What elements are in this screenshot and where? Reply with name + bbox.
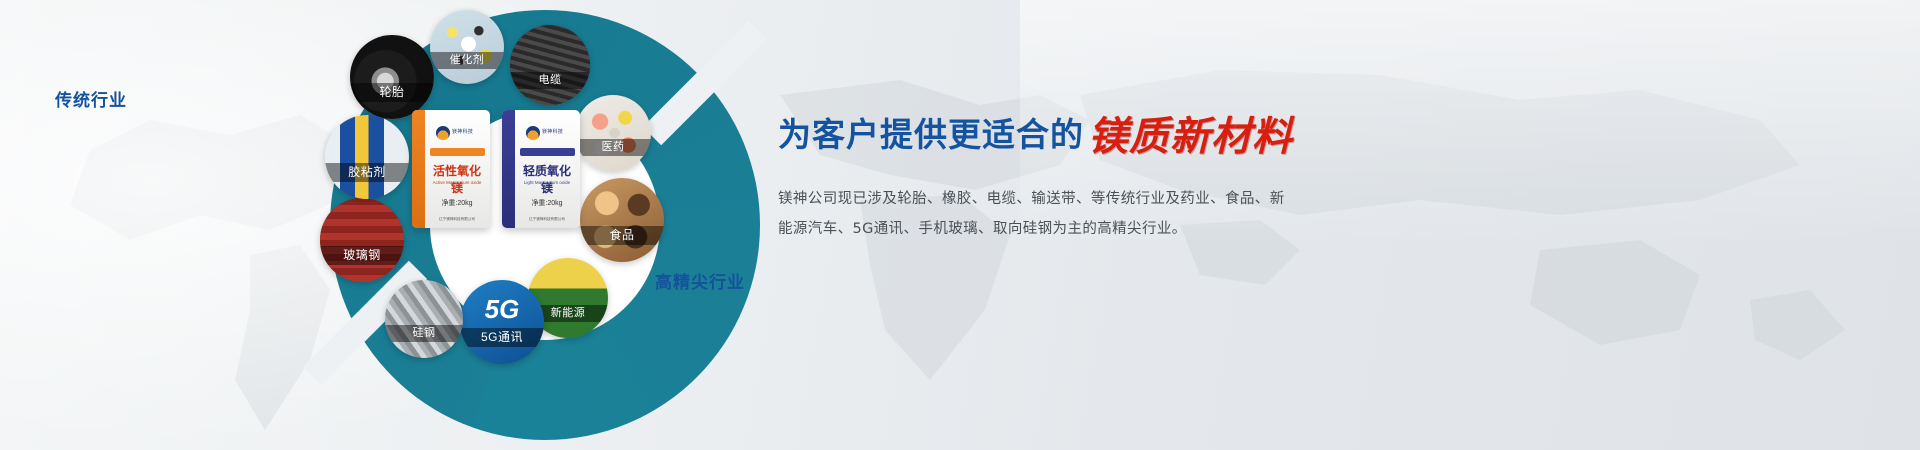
circle-caption: 5G通讯 bbox=[460, 328, 544, 347]
circle-tire[interactable]: 轮胎 bbox=[350, 35, 434, 119]
5g-badge-text: 5G bbox=[460, 294, 544, 325]
pack-stripe bbox=[412, 110, 425, 228]
circle-catalyst[interactable]: 催化剂 bbox=[430, 10, 504, 84]
pack-brand: 镁神科技 bbox=[542, 128, 563, 135]
adhesive-image bbox=[325, 115, 409, 199]
pack-band bbox=[430, 148, 485, 156]
pack-company: 辽宁镁神科技有限公司 bbox=[428, 217, 486, 222]
pack-company: 辽宁镁神科技有限公司 bbox=[518, 217, 576, 222]
brand-logo-icon bbox=[436, 126, 450, 140]
description-paragraph: 镁神公司现已涉及轮胎、橡胶、电缆、输送带、等传统行业及药业、食品、新 能源汽车、… bbox=[778, 184, 1338, 244]
circle-food[interactable]: 食品 bbox=[580, 178, 664, 262]
product-pack-light-magnesia[interactable]: 镁神科技 轻质氧化镁 Light Magnesium oxide 净重:20kg… bbox=[502, 110, 580, 228]
catalyst-image bbox=[430, 10, 504, 84]
product-packs: 镁神科技 活性氧化镁 Active Magnesium oxide 净重:20k… bbox=[412, 110, 587, 235]
circle-frp[interactable]: 玻璃钢 bbox=[320, 198, 404, 282]
pack-title: 活性氧化镁 bbox=[428, 162, 486, 196]
circle-caption: 食品 bbox=[580, 226, 664, 245]
frp-image bbox=[320, 198, 404, 282]
circle-cable[interactable]: 电缆 bbox=[510, 25, 590, 105]
headline: 为客户提供更适合的 镁质新材料 bbox=[778, 108, 1338, 156]
pack-brand: 镁神科技 bbox=[452, 128, 473, 135]
circle-5g[interactable]: 5G 5G通讯 bbox=[460, 280, 544, 364]
label-hitech-industries: 高精尖行业 bbox=[655, 268, 745, 293]
pack-subtitle: Light Magnesium oxide bbox=[518, 180, 576, 185]
circle-caption: 硅钢 bbox=[385, 325, 463, 342]
pack-stripe bbox=[502, 110, 515, 228]
brand-logo-icon bbox=[526, 126, 540, 140]
industry-ring-graphic: 轮胎 催化剂 电缆 医药 食品 新能源 5G 5G通讯 硅钢 玻璃钢 胶粘剂 bbox=[180, 0, 800, 450]
circle-caption: 胶粘剂 bbox=[325, 163, 409, 182]
product-pack-active-magnesia[interactable]: 镁神科技 活性氧化镁 Active Magnesium oxide 净重:20k… bbox=[412, 110, 490, 228]
pack-net-weight: 净重:20kg bbox=[428, 198, 486, 208]
pack-band bbox=[520, 148, 575, 156]
pack-subtitle: Active Magnesium oxide bbox=[428, 180, 486, 185]
silicon-steel-image bbox=[385, 280, 463, 358]
headline-red-text: 镁质新材料 bbox=[1088, 118, 1293, 156]
pack-net-weight: 净重:20kg bbox=[518, 198, 576, 208]
tire-image bbox=[350, 35, 434, 119]
pack-title: 轻质氧化镁 bbox=[518, 162, 576, 196]
cable-image bbox=[510, 25, 590, 105]
circle-silicon-steel[interactable]: 硅钢 bbox=[385, 280, 463, 358]
label-traditional-industries: 传统行业 bbox=[55, 86, 127, 111]
circle-caption: 催化剂 bbox=[430, 52, 504, 69]
circle-adhesive[interactable]: 胶粘剂 bbox=[325, 115, 409, 199]
headline-blue-text: 为客户提供更适合的 bbox=[778, 108, 1084, 156]
paragraph-line-1: 镁神公司现已涉及轮胎、橡胶、电缆、输送带、等传统行业及药业、食品、新 bbox=[778, 184, 1338, 214]
food-image bbox=[580, 178, 664, 262]
paragraph-line-2: 能源汽车、5G通讯、手机玻璃、取向硅钢为主的高精尖行业。 bbox=[778, 214, 1338, 244]
circle-caption: 电缆 bbox=[510, 72, 590, 89]
circle-caption: 玻璃钢 bbox=[320, 246, 404, 265]
copy-block: 为客户提供更适合的 镁质新材料 镁神公司现已涉及轮胎、橡胶、电缆、输送带、等传统… bbox=[778, 108, 1338, 244]
circle-caption: 轮胎 bbox=[350, 83, 434, 102]
